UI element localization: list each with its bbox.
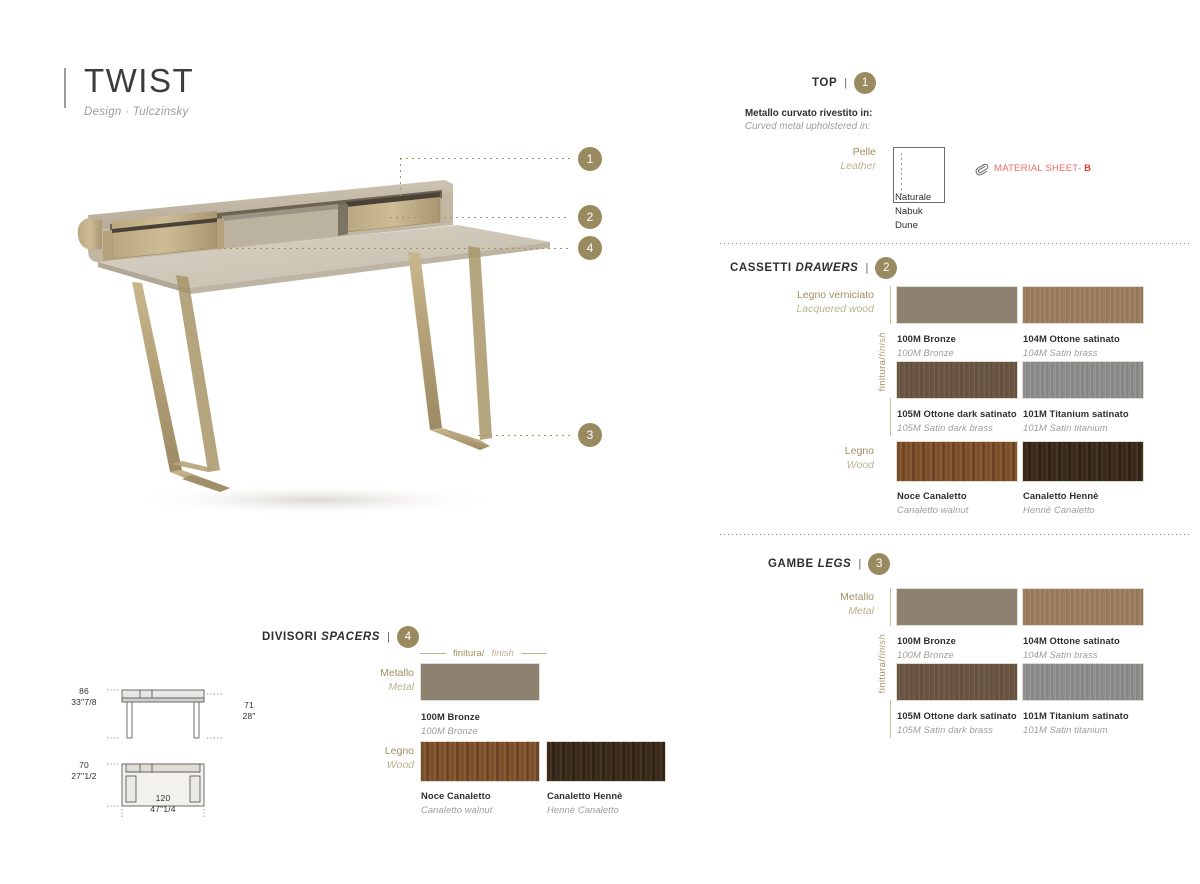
drawers-group-label-wood-en: Wood [772,458,874,472]
callout-marker-4[interactable]: 4 [578,236,602,260]
top-material-label-en: Leather [790,159,876,173]
top-material-label: Pelle Leather [790,145,876,173]
swatch-label-legs-100m: 100M Bronze 100M Bronze [897,634,1019,661]
drawers-finish-rule-top [890,286,891,324]
drawers-group-label-wood-it: Legno [772,444,874,458]
section-badge-top: 1 [854,72,876,94]
callout-leader-1-vertical [400,158,401,200]
callout-marker-2[interactable]: 2 [578,205,602,229]
divider-1 [720,243,1190,244]
top-description-en: Curved metal upholstered in: [745,121,872,132]
drawers-group-label-lacquered-en: Lacquered wood [760,302,874,316]
section-pipe: | [844,77,847,89]
swatch-drawers-101m[interactable] [1022,361,1144,399]
page-title: TWIST [84,64,194,97]
swatch-label-drawers-walnut: Noce Canaletto Canaletto walnut [897,489,1019,516]
callout-leader-4 [200,248,570,249]
legs-group-label-metal-en: Metal [772,604,874,618]
swatch-label-drawers-105m: 105M Ottone dark satinato 105M Satin dar… [897,407,1023,434]
spacers-group-label-metal: Metallo Metal [336,666,414,694]
section-title-spacers: DIVISORI SPACERS [262,631,380,643]
swatch-label-legs-105m: 105M Ottone dark satinato 105M Satin dar… [897,709,1023,736]
callout-leader-1 [400,158,570,159]
drawers-finish-rule-bottom [890,398,891,436]
leather-name-1: Naturale [895,191,931,205]
section-title-legs: GAMBE LEGS [768,558,851,570]
section-header-top: TOP | 1 [812,72,876,94]
legs-finish-label: finitura/finish [877,634,888,693]
spacers-group-label-metal-it: Metallo [336,666,414,680]
swatch-label-legs-104m: 104M Ottone satinato 104M Satin brass [1023,634,1153,661]
section-header-drawers: CASSETTI DRAWERS | 2 [730,257,897,279]
swatch-legs-100m[interactable] [896,588,1018,626]
top-description-it: Metallo curvato rivestito in: [745,108,872,119]
spacers-finish-label: finitura/finish [420,648,547,659]
section-badge-drawers: 2 [875,257,897,279]
swatch-drawers-100m[interactable] [896,286,1018,324]
spacers-finish-label-it: finitura/ [453,648,484,659]
section-badge-legs: 3 [868,553,890,575]
swatch-spacers-walnut[interactable] [420,741,540,782]
section-title-drawers: CASSETTI DRAWERS [730,262,858,274]
dimension-width: 12047"1/4 [118,793,208,816]
paperclip-icon [974,161,989,176]
spacers-group-label-wood: Legno Wood [336,744,414,772]
drawers-finish-label: finitura/finish [877,332,888,391]
spec-sheet-page: TWIST Design · Tulczinsky [0,0,1200,884]
dimension-height: 8633"7/8 [62,686,106,709]
swatch-spacers-henne[interactable] [546,741,666,782]
section-pipe: | [858,558,861,570]
leather-name-2: Nabuk [895,205,931,219]
swatch-label-spacers-100m: 100M Bronze 100M Bronze [421,710,541,737]
drawers-group-label-lacquered: Legno verniciato Lacquered wood [760,288,874,316]
drawers-group-label-lacquered-it: Legno verniciato [760,288,874,302]
swatch-drawers-walnut[interactable] [896,441,1018,482]
swatch-label-drawers-104m: 104M Ottone satinato 104M Satin brass [1023,332,1153,359]
callout-leader-2 [390,217,570,218]
section-pipe: | [865,262,868,274]
dimension-drawings: 8633"7/8 7128" 7027"1/2 12047"1/4 [60,660,290,820]
section-header-spacers: DIVISORI SPACERS | 4 [262,626,419,648]
swatch-label-drawers-henne: Canaletto Hennè Hennè Canaletto [1023,489,1145,516]
dimension-top-height: 7128" [226,700,272,723]
section-title-top: TOP [812,77,837,89]
page-title-block: TWIST Design · Tulczinsky [64,64,194,118]
spacers-finish-label-en: finish [491,648,513,659]
material-sheet-label: MATERIAL SHEET- B [994,163,1091,174]
section-header-legs: GAMBE LEGS | 3 [768,553,890,575]
swatch-legs-101m[interactable] [1022,663,1144,701]
callout-marker-3[interactable]: 3 [578,423,602,447]
legs-finish-rule-bottom [890,700,891,738]
leather-name-3: Dune [895,219,931,233]
top-description: Metallo curvato rivestito in: Curved met… [745,108,872,132]
section-pipe: | [387,631,390,643]
swatch-spacers-100m[interactable] [420,663,540,701]
material-sheet-link[interactable]: MATERIAL SHEET- B [974,161,1091,176]
leather-swatch-names: Naturale Nabuk Dune [895,191,931,233]
spacers-group-label-wood-it: Legno [336,744,414,758]
swatch-label-legs-101m: 101M Titanium satinato 101M Satin titani… [1023,709,1149,736]
spacers-group-label-metal-en: Metal [336,680,414,694]
callout-marker-1[interactable]: 1 [578,147,602,171]
finish-dash-right [521,653,547,654]
dimension-depth: 7027"1/2 [62,760,106,783]
section-badge-spacers: 4 [397,626,419,648]
top-material-label-it: Pelle [790,145,876,159]
swatch-legs-105m[interactable] [896,663,1018,701]
designer-credit: Design · Tulczinsky [84,106,194,118]
callout-leader-3 [478,435,570,436]
product-photo [70,170,570,530]
swatch-drawers-henne[interactable] [1022,441,1144,482]
finish-dash-left [420,653,446,654]
swatch-label-spacers-henne: Canaletto Hennè Hennè Canaletto [547,789,667,816]
swatch-label-spacers-walnut: Noce Canaletto Canaletto walnut [421,789,541,816]
swatch-drawers-105m[interactable] [896,361,1018,399]
swatch-drawers-104m[interactable] [1022,286,1144,324]
swatch-label-drawers-100m: 100M Bronze 100M Bronze [897,332,1019,359]
legs-group-label-metal-it: Metallo [772,590,874,604]
divider-2 [720,534,1190,535]
legs-group-label-metal: Metallo Metal [772,590,874,618]
legs-finish-rule-top [890,588,891,626]
drawers-group-label-wood: Legno Wood [772,444,874,472]
swatch-legs-104m[interactable] [1022,588,1144,626]
spacers-group-label-wood-en: Wood [336,758,414,772]
swatch-label-drawers-101m: 101M Titanium satinato 101M Satin titani… [1023,407,1149,434]
